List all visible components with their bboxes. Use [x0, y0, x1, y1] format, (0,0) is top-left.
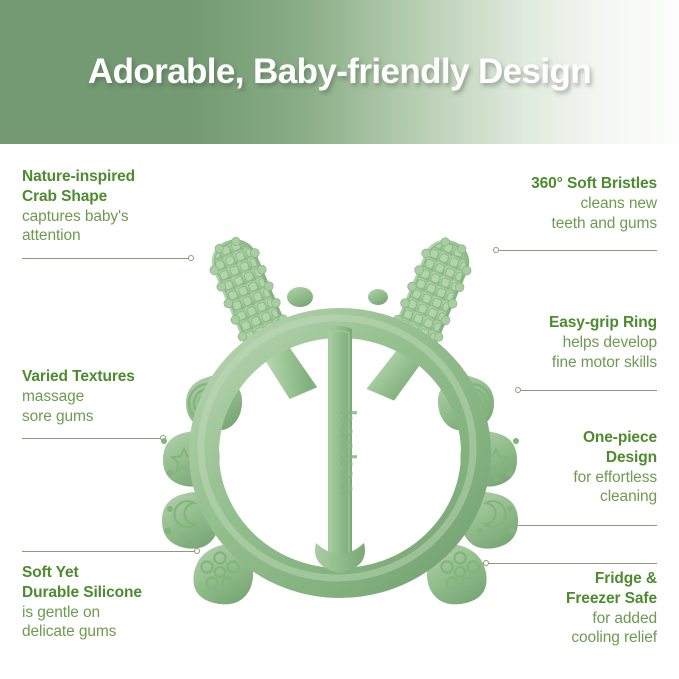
callout-title-line: Freezer Safe [447, 589, 657, 609]
callout-sub-line: for added [447, 609, 657, 629]
leader-line-easy-grip [519, 390, 657, 391]
callout-title-line: Varied Textures [22, 367, 222, 387]
product-top-bump-left [287, 287, 313, 307]
callout-varied-textures: Varied Textures massage sore gums [22, 367, 222, 426]
callout-nature-inspired-crab-shape: Nature-inspired Crab Shape captures baby… [22, 167, 232, 246]
callout-title-line: Easy-grip Ring [437, 313, 657, 333]
callout-sub-line: attention [22, 226, 232, 246]
callout-sub-line: cooling relief [447, 628, 657, 648]
product-top-bump-right [368, 289, 388, 305]
callout-title-line: Crab Shape [22, 187, 232, 207]
callout-title-line: Durable Silicone [22, 583, 252, 603]
callout-sub-line: helps develop [437, 333, 657, 353]
leader-line-varied-textures [22, 438, 162, 439]
callout-title-line: Nature-inspired [22, 167, 232, 187]
callout-sub-line: cleans new [407, 194, 657, 214]
callout-title-line: Fridge & [447, 569, 657, 589]
callout-title-line: Soft Yet [22, 563, 252, 583]
callout-sub-line: is gentle on [22, 603, 252, 623]
infographic-page: Adorable, Baby-friendly Design [0, 0, 679, 679]
callout-title-line: 360° Soft Bristles [407, 174, 657, 194]
product-brand-emboss: haakaa [335, 409, 361, 496]
callout-sub-line: captures baby's [22, 207, 232, 227]
callout-sub-line: sore gums [22, 407, 222, 427]
callout-title-line: Design [457, 448, 657, 468]
callout-sub-line: for effortless [457, 468, 657, 488]
callout-soft-yet-durable-silicone: Soft Yet Durable Silicone is gentle on d… [22, 563, 252, 642]
callout-title-line: One-piece [457, 428, 657, 448]
callout-sub-line: delicate gums [22, 622, 252, 642]
callout-sub-line: massage [22, 387, 222, 407]
callout-360-soft-bristles: 360° Soft Bristles cleans new teeth and … [407, 174, 657, 233]
callout-easy-grip-ring: Easy-grip Ring helps develop fine motor … [437, 313, 657, 372]
callout-sub-line: teeth and gums [407, 214, 657, 234]
callout-sub-line: cleaning [457, 487, 657, 507]
callout-fridge-freezer-safe: Fridge & Freezer Safe for added cooling … [447, 569, 657, 648]
callout-one-piece-design: One-piece Design for effortless cleaning [457, 428, 657, 507]
callout-sub-line: fine motor skills [437, 353, 657, 373]
page-title: Adorable, Baby-friendly Design [0, 0, 679, 144]
